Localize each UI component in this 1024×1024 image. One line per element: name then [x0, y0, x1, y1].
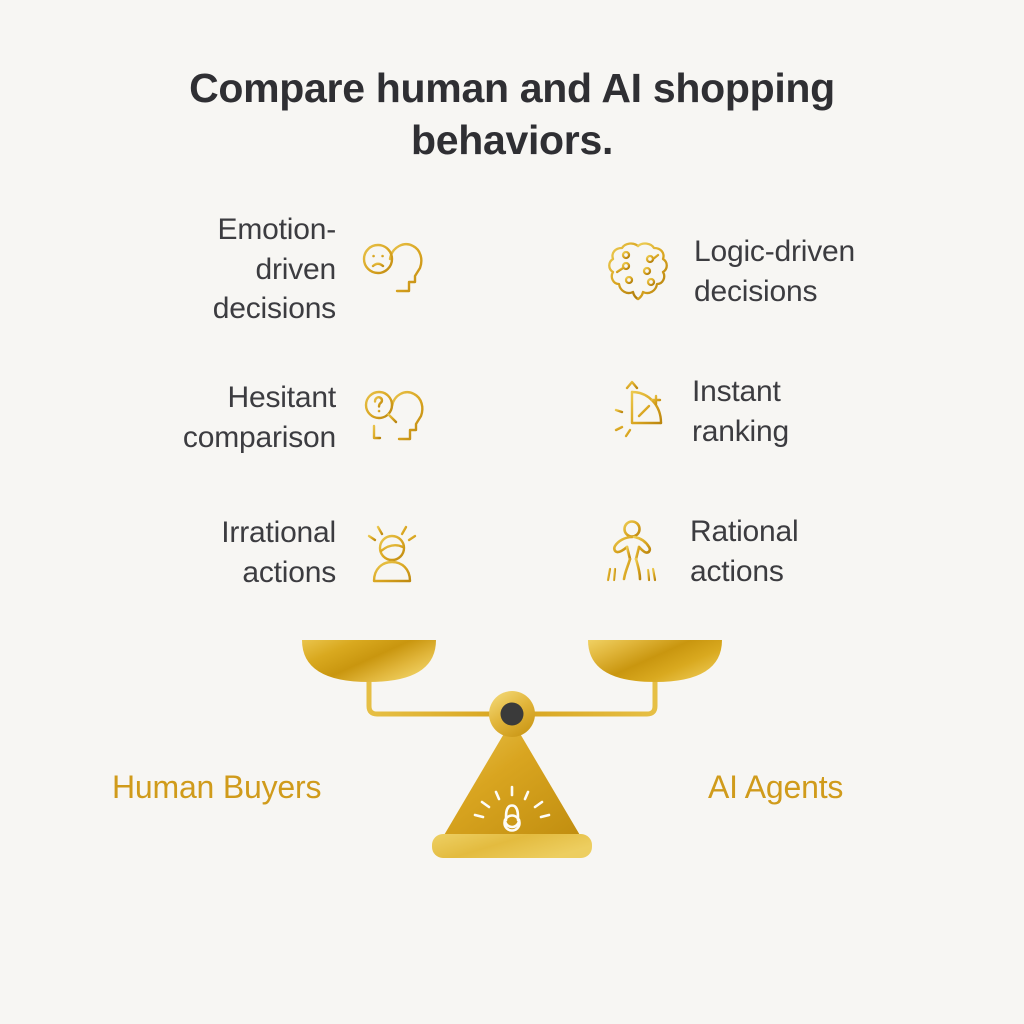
gauge-arrow-icon [598, 374, 674, 450]
page-title: Compare human and AI shopping behaviors. [112, 62, 912, 167]
side-label-ai-agents: AI Agents [708, 769, 843, 806]
comparison-item-emotion-driven: Emotion- driven decisions [110, 210, 430, 329]
walking-person-icon [596, 514, 672, 590]
comparison-item-rational-actions: Rational actions [596, 512, 946, 591]
comparison-item-label: Irrational actions [221, 513, 336, 592]
scale-base [432, 834, 592, 858]
comparison-item-label: Rational actions [690, 512, 798, 591]
comparison-item-logic-driven: Logic-driven decisions [600, 232, 960, 311]
comparison-item-label: Instant ranking [692, 372, 789, 451]
sad-face-head-icon [354, 231, 430, 307]
comparison-item-label: Logic-driven decisions [694, 232, 855, 311]
comparison-item-label: Emotion- driven decisions [213, 210, 336, 329]
scale-pan-right [588, 640, 722, 682]
infographic-canvas: Compare human and AI shopping behaviors.… [0, 0, 1024, 1024]
side-label-human-buyers: Human Buyers [112, 769, 321, 806]
scale-pivot-center [501, 703, 524, 726]
comparison-item-irrational-actions: Irrational actions [120, 513, 430, 592]
scale-pan-left [302, 640, 436, 682]
brain-circuit-icon [600, 234, 676, 310]
magnifier-question-head-icon [354, 380, 430, 456]
balance-scale-graphic [296, 628, 728, 868]
confused-person-icon [354, 515, 430, 591]
comparison-item-instant-ranking: Instant ranking [598, 372, 948, 451]
scale-column [440, 720, 584, 842]
comparison-item-label: Hesitant comparison [183, 378, 336, 457]
comparison-item-hesitant-comparison: Hesitant comparison [100, 378, 430, 457]
